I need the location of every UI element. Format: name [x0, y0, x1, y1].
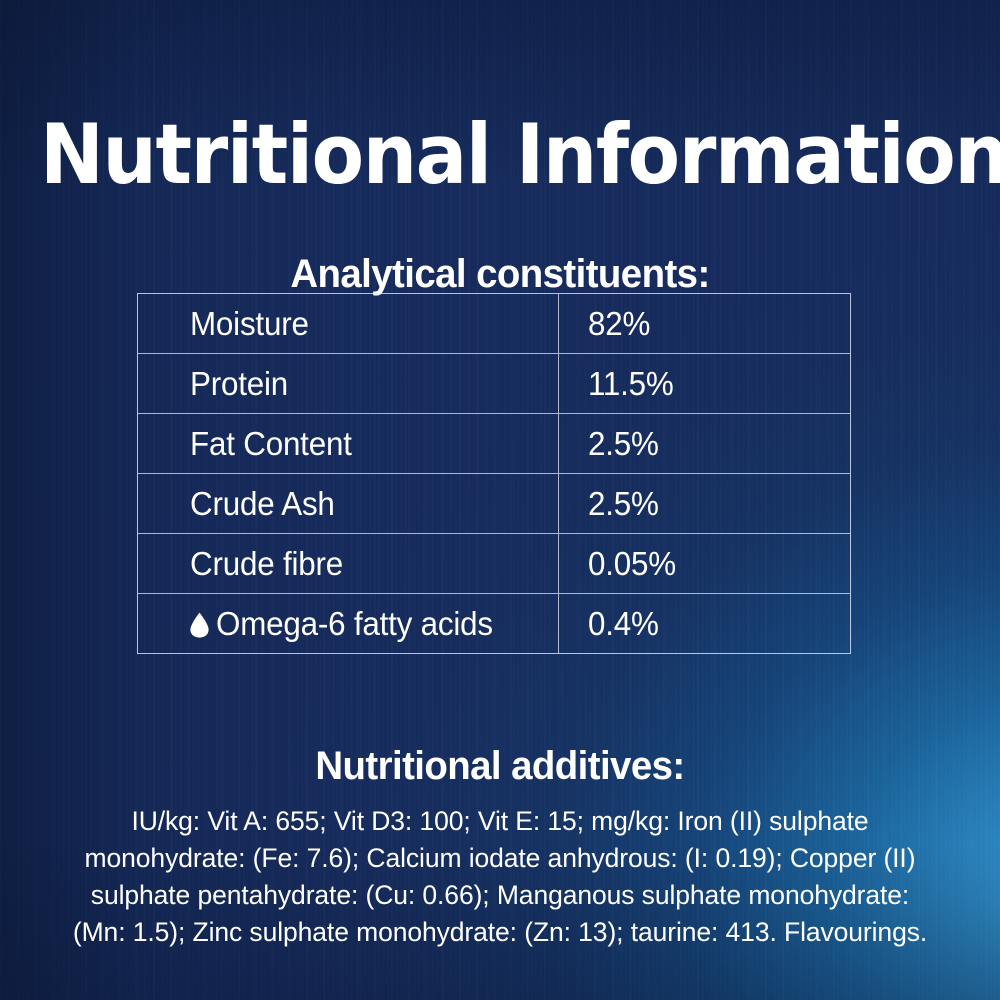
table-cell-name: Crude Ash	[138, 474, 559, 533]
table-cell-value: 0.4%	[559, 594, 850, 653]
constituent-value: 2.5%	[588, 485, 659, 523]
constituent-label: Crude fibre	[190, 545, 343, 583]
table-row: Omega-6 fatty acids 0.4%	[138, 594, 850, 653]
constituent-value: 2.5%	[588, 425, 659, 463]
table-row: Crude Ash 2.5%	[138, 474, 850, 534]
analytical-constituents-table: Moisture 82% Protein 11.5% Fat Content	[137, 293, 851, 654]
table-cell-name: Moisture	[138, 294, 559, 353]
constituent-label: Protein	[190, 365, 288, 403]
table-cell-value: 11.5%	[559, 354, 850, 413]
table-cell-value: 2.5%	[559, 474, 850, 533]
constituent-value: 0.05%	[588, 545, 676, 583]
constituent-value: 11.5%	[588, 365, 674, 403]
table-cell-value: 0.05%	[559, 534, 850, 593]
constituent-label: Omega-6 fatty acids	[216, 605, 493, 643]
constituent-label: Fat Content	[190, 425, 352, 463]
page-title: Nutritional Information	[40, 113, 960, 196]
nutritional-information-panel: Nutritional Information Analytical const…	[0, 0, 1000, 1000]
nutritional-additives-heading: Nutritional additives:	[20, 746, 980, 786]
table-cell-value: 2.5%	[559, 414, 850, 473]
table-row: Moisture 82%	[138, 294, 850, 354]
table-row: Fat Content 2.5%	[138, 414, 850, 474]
constituent-value: 82%	[588, 305, 650, 343]
constituent-value: 0.4%	[588, 605, 659, 643]
table-cell-value: 82%	[559, 294, 850, 353]
table-row: Protein 11.5%	[138, 354, 850, 414]
table-cell-name: Omega-6 fatty acids	[138, 594, 559, 653]
table-cell-name: Protein	[138, 354, 559, 413]
constituent-label: Crude Ash	[190, 485, 335, 523]
constituent-label: Moisture	[190, 305, 309, 343]
table-cell-name: Crude fibre	[138, 534, 559, 593]
nutritional-additives-text: IU/kg: Vit A: 655; Vit D3: 100; Vit E: 1…	[72, 803, 928, 951]
water-drop-icon	[190, 612, 209, 638]
analytical-constituents-heading: Analytical constituents:	[20, 254, 980, 294]
table-row: Crude fibre 0.05%	[138, 534, 850, 594]
table-cell-name: Fat Content	[138, 414, 559, 473]
